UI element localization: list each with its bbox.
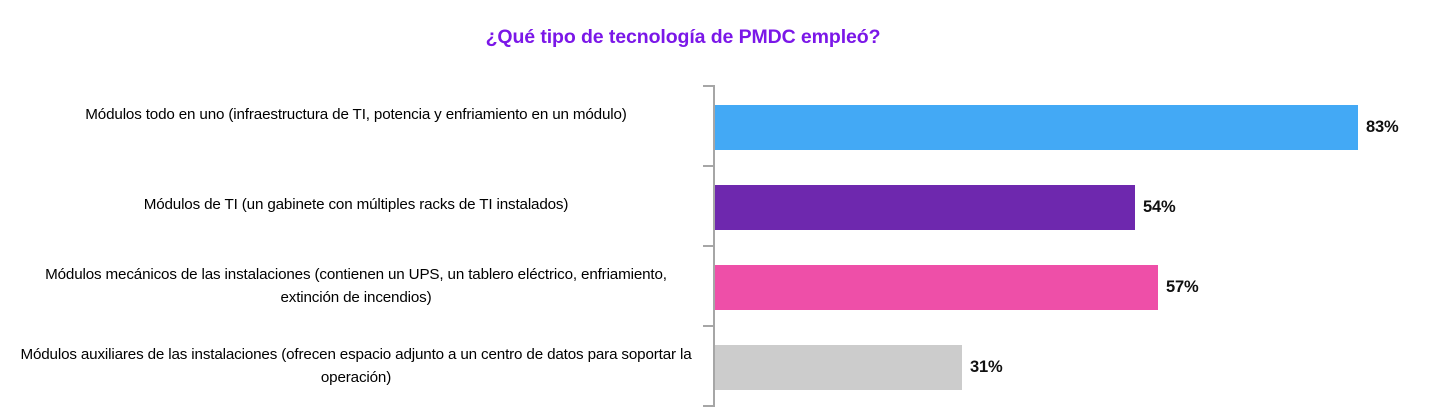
- bar-row: Módulos todo en uno (infraestructura de …: [0, 85, 1430, 165]
- chart-canvas: ¿Qué tipo de tecnología de PMDC empleó? …: [0, 0, 1430, 413]
- bar-segment[interactable]: [715, 345, 962, 390]
- bar-value-label: 83%: [1366, 105, 1398, 150]
- bar-value-label: 54%: [1143, 185, 1175, 230]
- bar-segment[interactable]: [715, 265, 1158, 310]
- bar-row: Módulos auxiliares de las instalaciones …: [0, 325, 1430, 405]
- bar-row: Módulos de TI (un gabinete con múltiples…: [0, 165, 1430, 245]
- plot-area: Módulos todo en uno (infraestructura de …: [0, 85, 1430, 408]
- bar-value-label: 57%: [1166, 265, 1198, 310]
- bar-value-label: 31%: [970, 345, 1002, 390]
- bar-segment[interactable]: [715, 185, 1135, 230]
- category-label: Módulos mecánicos de las instalaciones (…: [18, 263, 694, 309]
- axis-tick: [703, 405, 714, 407]
- category-label: Módulos todo en uno (infraestructura de …: [18, 103, 694, 126]
- chart-title: ¿Qué tipo de tecnología de PMDC empleó?: [0, 26, 1366, 49]
- category-label: Módulos de TI (un gabinete con múltiples…: [18, 193, 694, 216]
- category-label: Módulos auxiliares de las instalaciones …: [18, 343, 694, 389]
- bar-segment[interactable]: [715, 105, 1358, 150]
- bar-row: Módulos mecánicos de las instalaciones (…: [0, 245, 1430, 325]
